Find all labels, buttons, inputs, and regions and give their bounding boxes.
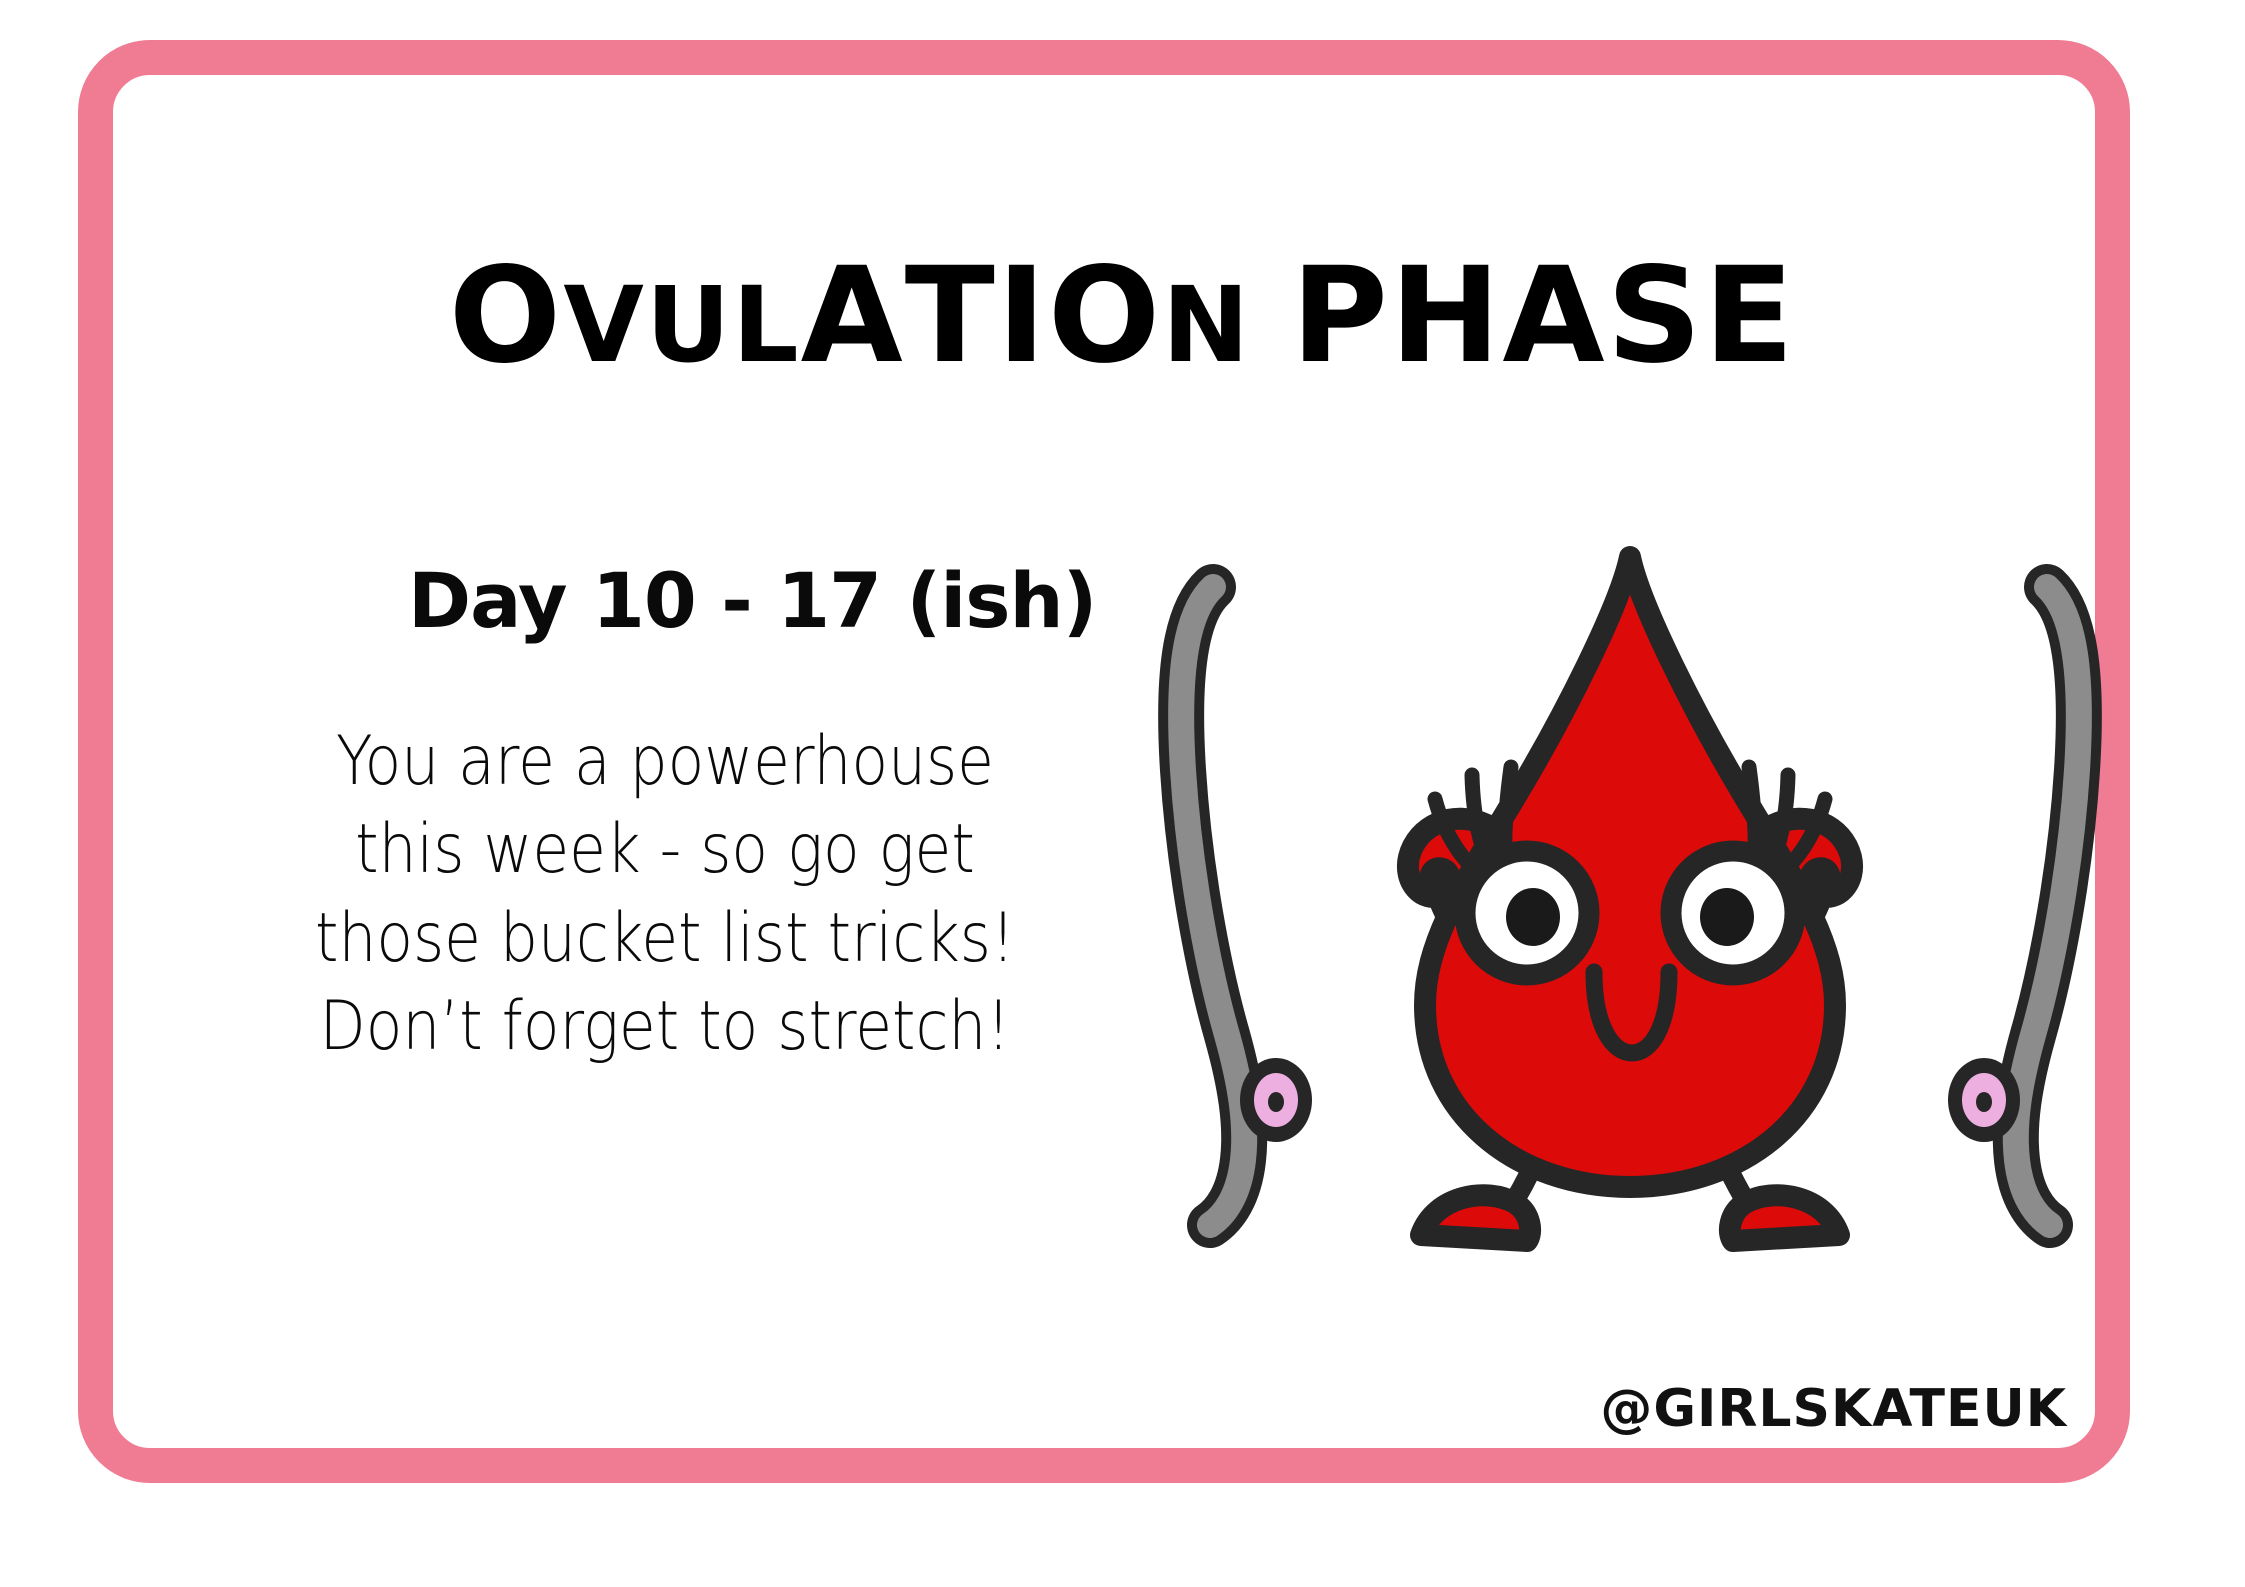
title-letter: S: [1607, 250, 1704, 382]
title-letter: P: [1291, 250, 1390, 382]
right-wheel: [1948, 1058, 2020, 1142]
left-wheel: [1240, 1058, 1312, 1142]
body-line: this week - so go get: [304, 806, 1026, 894]
title-letter: N: [1162, 273, 1251, 377]
title-letter: U: [646, 273, 732, 377]
day-range-label: Day 10 - 17 (ish): [408, 556, 1096, 645]
body-line: those bucket list tricks!: [304, 895, 1026, 983]
poster-card: OVULATIONPHASE Day 10 - 17 (ish) You are…: [0, 0, 2245, 1587]
title-letter: A: [801, 250, 905, 382]
right-foot: [1730, 1195, 1839, 1241]
body-paragraph: You are a powerhouse this week - so go g…: [304, 718, 1026, 1072]
right-eye: [1671, 851, 1795, 975]
right-skateboard: [2016, 587, 2079, 1225]
body-line: You are a powerhouse: [304, 718, 1026, 806]
title-letter: L: [732, 273, 800, 377]
page-title: OVULATIONPHASE: [0, 250, 2245, 382]
title-letter: I: [997, 250, 1048, 382]
left-skateboard: [1181, 587, 1244, 1225]
blood-drop-character-illustration: [1135, 535, 2125, 1355]
body-line: Don’t forget to stretch!: [304, 983, 1026, 1071]
mascot-svg: [1135, 535, 2125, 1355]
title-letter: A: [1502, 250, 1606, 382]
title-letter: O: [446, 247, 567, 385]
title-letter: T: [905, 250, 997, 382]
left-foot: [1421, 1195, 1530, 1241]
social-handle: @GIRLSKATEUK: [1600, 1379, 2067, 1439]
title-letter: O: [1048, 250, 1162, 382]
title-letter: V: [563, 273, 646, 377]
title-letter: H: [1390, 250, 1502, 382]
left-eye: [1465, 851, 1589, 975]
title-letter: E: [1704, 250, 1796, 382]
